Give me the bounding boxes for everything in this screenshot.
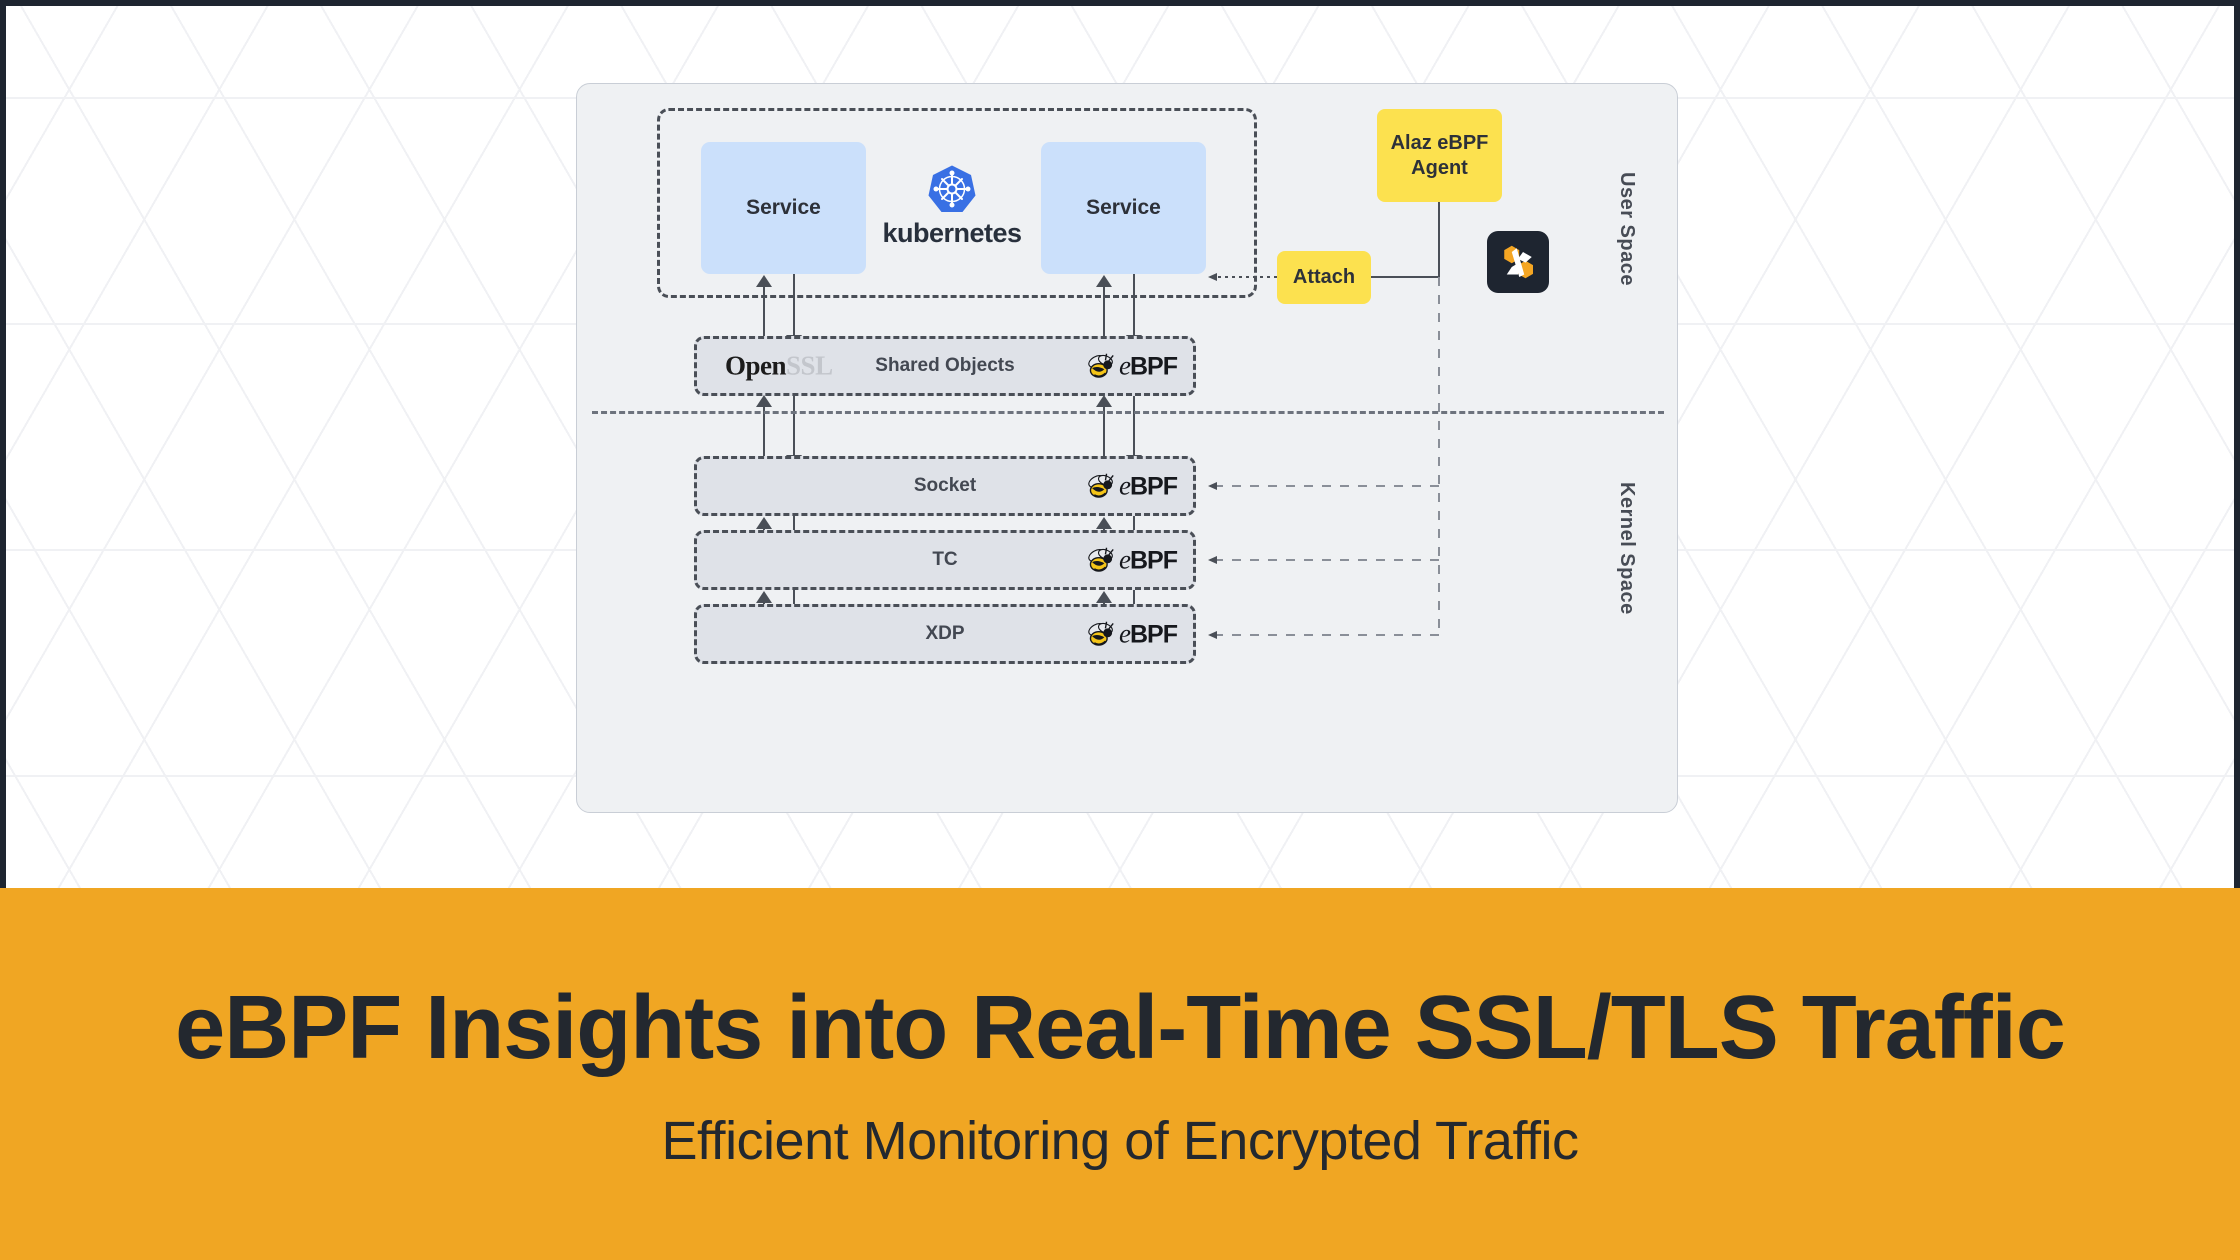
arrow-down-left-service [793,274,795,336]
banner-title: eBPF Insights into Real-Time SSL/TLS Tra… [175,977,2065,1080]
ebpf-bee-icon [1084,351,1118,381]
kubernetes-wheel-icon [927,164,977,214]
arrow-up-right-service [1103,286,1105,336]
ebpf-bee-icon [1084,545,1118,575]
agent-label-line2: Agent [1411,157,1468,179]
arrow-down-right-service [1133,274,1135,336]
ebpf-suffix: BPF [1130,547,1177,575]
layer-label: Socket [914,475,976,497]
attach-node[interactable]: Attach [1277,251,1371,304]
ebpf-prefix: e [1119,619,1130,649]
kubernetes-logo: kubernetes [877,164,1027,274]
layer-label: XDP [925,623,964,645]
service-label: Service [746,196,821,220]
layer-shared-objects[interactable]: OpenSSL Shared Objects eBPF [694,336,1196,396]
architecture-diagram: Service Service [576,83,1678,813]
ebpf-wordmark: eBPF [1119,351,1177,382]
attach-label: Attach [1293,265,1355,290]
ebpf-logo: eBPF [1084,545,1177,576]
ebpf-logo: eBPF [1084,471,1177,502]
ebpf-suffix: BPF [1130,621,1177,649]
ebpf-wordmark: eBPF [1119,545,1177,576]
arrow-up-left-service [763,286,765,336]
ebpf-logo: eBPF [1084,619,1177,650]
alaz-ebpf-agent-node[interactable]: Alaz eBPF Agent [1377,109,1502,202]
ebpf-prefix: e [1119,545,1130,575]
service-box-left[interactable]: Service [701,142,866,274]
ebpf-wordmark: eBPF [1119,471,1177,502]
user-kernel-divider [592,411,1664,414]
arrow-down-so-socket [793,396,795,456]
agent-label-line1: Alaz eBPF [1391,132,1489,154]
openssl-ssl-text: SSL [786,351,833,381]
ebpf-prefix: e [1119,351,1130,381]
kernel-space-label: Kernel Space [1615,482,1638,615]
anteon-logo-tile [1487,231,1549,293]
diagram-backdrop: Service Service [6,6,2234,888]
banner-subtitle: Efficient Monitoring of Encrypted Traffi… [662,1110,1579,1172]
user-space-label: User Space [1615,172,1638,286]
ebpf-bee-icon [1084,471,1118,501]
page-root: Service Service [0,0,2240,1260]
kubernetes-wordmark: kubernetes [882,218,1021,249]
layer-tc[interactable]: TC eBPF [694,530,1196,590]
layer-socket[interactable]: Socket eBPF [694,456,1196,516]
openssl-logo: OpenSSL [725,351,833,382]
ebpf-suffix: BPF [1130,473,1177,501]
layer-xdp[interactable]: XDP eBPF [694,604,1196,664]
title-banner: eBPF Insights into Real-Time SSL/TLS Tra… [0,888,2240,1260]
service-box-right[interactable]: Service [1041,142,1206,274]
ebpf-wordmark: eBPF [1119,619,1177,650]
ebpf-suffix: BPF [1130,353,1177,381]
ebpf-prefix: e [1119,471,1130,501]
layer-label: Shared Objects [875,355,1014,377]
ebpf-bee-icon [1084,619,1118,649]
openssl-open-text: Open [725,351,786,381]
ebpf-logo: eBPF [1084,351,1177,382]
agent-label: Alaz eBPF Agent [1391,131,1489,181]
service-label: Service [1086,196,1161,220]
arrow-down-so-socket-2 [1133,396,1135,456]
anteon-logo-icon [1498,242,1538,282]
layer-label: TC [932,549,957,571]
